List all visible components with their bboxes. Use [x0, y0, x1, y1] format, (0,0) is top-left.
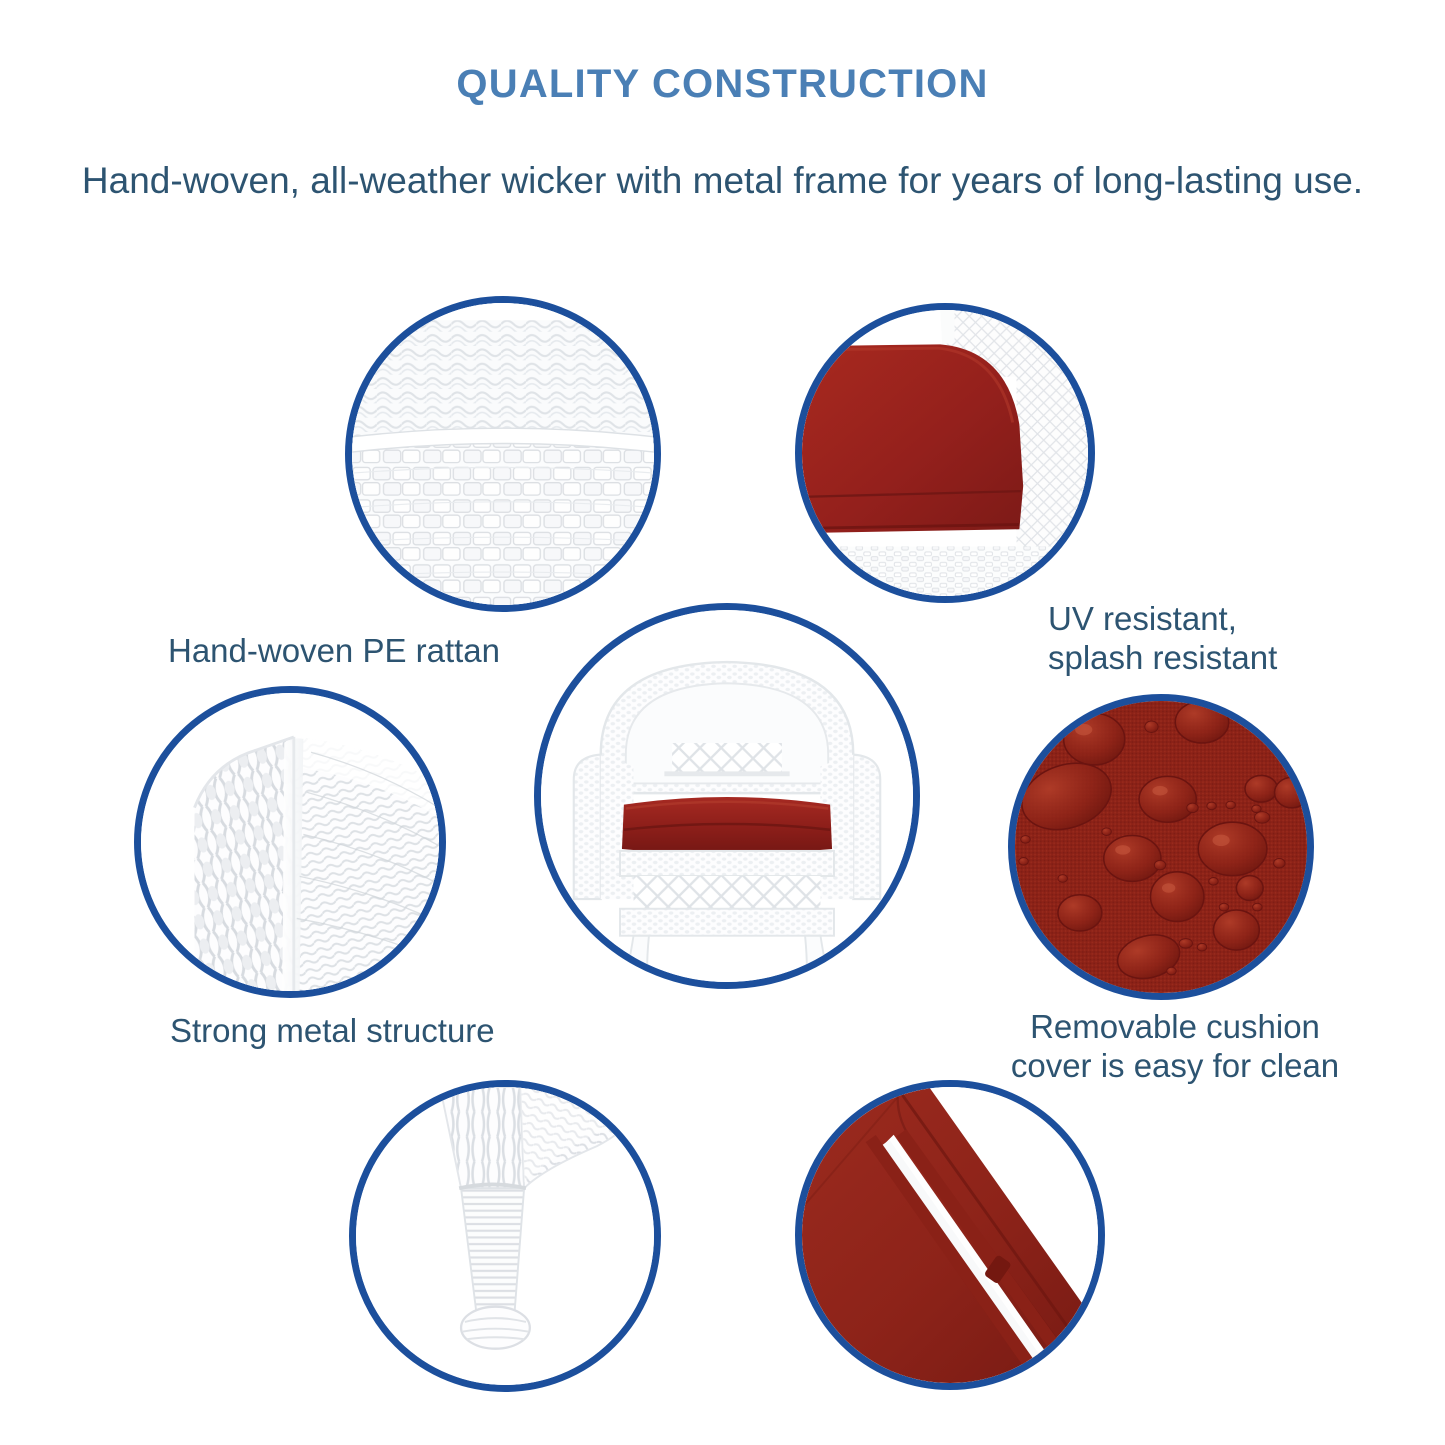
- wicker-weave-image: [352, 303, 654, 605]
- feature-circle-removable-cushion-cover: [1008, 694, 1314, 1000]
- feature-circle-uv-splash-resistant: [795, 303, 1095, 603]
- cushion-zipper-image: [802, 1087, 1098, 1383]
- feature-circle-chair-leg-detail: [349, 1080, 661, 1392]
- water-droplets-image: [1015, 701, 1307, 993]
- caption-hand-woven-pe-rattan: Hand-woven PE rattan: [168, 632, 588, 671]
- feature-circle-full-chair: [534, 603, 920, 989]
- infographic-page: QUALITY CONSTRUCTION Hand-woven, all-wea…: [0, 0, 1445, 1445]
- page-subtitle: Hand-woven, all-weather wicker with meta…: [0, 160, 1445, 202]
- caption-removable-cushion-cover: Removable cushion cover is easy for clea…: [985, 1008, 1365, 1086]
- caption-uv-splash-resistant: UV resistant, splash resistant: [1048, 600, 1378, 678]
- caption-strong-metal-structure: Strong metal structure: [170, 1012, 590, 1051]
- red-cushion-corner-image: [802, 310, 1088, 596]
- feature-circle-hand-woven-pe-rattan: [345, 296, 661, 612]
- white-wicker-armchair-image: [541, 610, 913, 982]
- wicker-arm-corner-image: [141, 693, 439, 991]
- feature-circle-strong-metal-structure: [134, 686, 446, 998]
- feature-circle-cushion-zipper: [795, 1080, 1105, 1390]
- page-title: QUALITY CONSTRUCTION: [0, 62, 1445, 107]
- chair-leg-image: [356, 1087, 654, 1385]
